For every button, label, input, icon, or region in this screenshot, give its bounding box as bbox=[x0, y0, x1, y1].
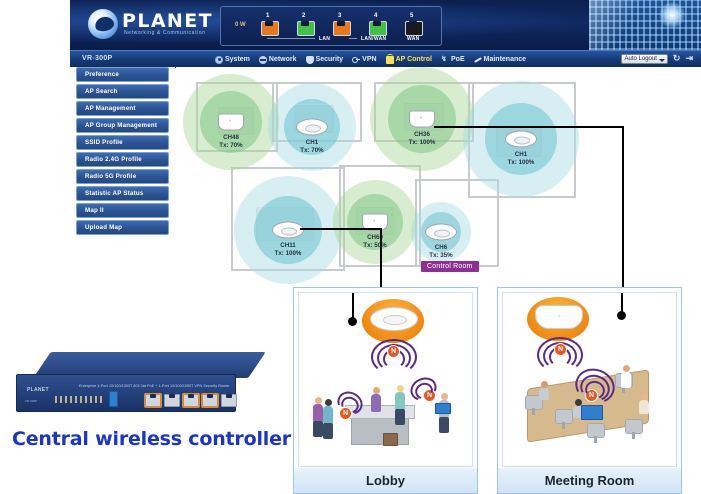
port-group: 12345LANLAN/WANWAN bbox=[261, 13, 436, 43]
ceiling-ap-device bbox=[527, 297, 589, 341]
controller-spec-label: Enterprise 4-Port 10/100/1000T 802.3at P… bbox=[79, 384, 230, 388]
sidebar-item-ap-group-management[interactable]: AP Group Management bbox=[76, 118, 169, 133]
ap-channel: CH6 bbox=[429, 244, 452, 252]
rj45-port bbox=[183, 394, 199, 407]
sidebar-item-preference[interactable]: Preference bbox=[76, 67, 169, 82]
sidebar-item-radio-5g-profile[interactable]: Radio 5G Profile bbox=[76, 169, 169, 184]
nav-item-label: AP Control bbox=[396, 56, 432, 63]
device-model-label: VR-300P bbox=[82, 55, 113, 62]
controller-port-row bbox=[145, 394, 237, 407]
network-icon bbox=[259, 56, 267, 64]
key-icon bbox=[352, 56, 360, 64]
planet-logo-mark-icon bbox=[88, 9, 118, 39]
ap-tx-power: Tx: 100% bbox=[275, 250, 302, 258]
app-root: PLANET Networking & Communication 0 W 12… bbox=[0, 0, 701, 494]
port-number: 2 bbox=[302, 13, 305, 19]
ap-plate bbox=[535, 305, 583, 329]
rj45-port bbox=[164, 394, 180, 407]
nav-item-label: Maintenance bbox=[484, 56, 526, 63]
rj45-port-indicator[interactable] bbox=[333, 21, 351, 36]
logout-icon[interactable]: ⇥ bbox=[685, 53, 693, 64]
scene-meeting-room: N N bbox=[497, 287, 682, 494]
sidebar-item-statistic-ap-status[interactable]: Statistic AP Status bbox=[76, 186, 169, 201]
poe-icon: ↯ bbox=[441, 56, 449, 64]
rj45-port bbox=[202, 394, 218, 407]
port-number: 5 bbox=[410, 13, 413, 19]
scene-meeting-illustration: N N bbox=[502, 292, 677, 467]
port-group-label: LAN bbox=[319, 36, 330, 42]
nav-item-label: Security bbox=[316, 56, 344, 63]
suitcase bbox=[383, 433, 398, 446]
nav-item-label: System bbox=[225, 56, 250, 63]
ap-channel: CH1 bbox=[508, 151, 535, 159]
sidebar-item-map-ii[interactable]: Map II bbox=[76, 203, 169, 218]
nav-item-poe[interactable]: ↯PoE bbox=[441, 56, 465, 64]
laptop-device bbox=[435, 403, 451, 414]
ap-device-icon bbox=[505, 131, 537, 148]
refresh-icon[interactable]: ↻ bbox=[673, 53, 681, 64]
scene-meeting-caption: Meeting Room bbox=[498, 468, 681, 493]
planet-logo-text: PLANET bbox=[122, 10, 213, 32]
rj45-port-indicator[interactable] bbox=[369, 21, 387, 36]
cable-segment bbox=[434, 126, 624, 128]
port-group-label bbox=[349, 38, 357, 39]
office-chair bbox=[625, 419, 643, 434]
ap-tx-power: Tx: 70% bbox=[300, 147, 323, 155]
wifi-n-badge: N bbox=[554, 343, 567, 356]
nav-item-label: PoE bbox=[451, 56, 465, 63]
controller-led-strip bbox=[55, 396, 103, 403]
nav-right-controls: Auto Logout ↻ ⇥ bbox=[621, 53, 693, 64]
ap-tx-power: Tx: 70% bbox=[219, 142, 242, 150]
ap-label: CH1Tx: 70% bbox=[300, 139, 323, 155]
controller-brand-label: PLANET bbox=[27, 387, 49, 393]
office-chair bbox=[587, 423, 605, 438]
office-chair bbox=[555, 409, 573, 424]
ap-channel: CH60 bbox=[363, 234, 386, 242]
wifi-waves bbox=[571, 369, 617, 395]
rj45-port-indicator[interactable] bbox=[405, 21, 423, 36]
ap-label: CH6Tx: 35% bbox=[429, 244, 452, 260]
ceiling-drop-cable bbox=[352, 292, 354, 319]
gear-icon bbox=[215, 56, 223, 64]
controller-front-face: PLANET Enterprise 4-Port 10/100/1000T 80… bbox=[16, 374, 236, 412]
access-point-icon bbox=[386, 56, 394, 64]
ap-tx-power: Tx: 100% bbox=[409, 139, 436, 147]
ap-channel: CH36 bbox=[409, 131, 436, 139]
ap-device-icon bbox=[425, 224, 457, 241]
control-room-label: Control Room bbox=[421, 261, 479, 272]
sidebar-item-ap-management[interactable]: AP Management bbox=[76, 101, 169, 116]
nav-item-list: SystemNetworkSecurityVPNAP Control↯PoEMa… bbox=[215, 51, 526, 68]
ceiling-ap-device bbox=[362, 299, 424, 343]
ap-tx-power: Tx: 100% bbox=[508, 159, 535, 167]
rj45-port-indicator[interactable] bbox=[261, 21, 279, 36]
cable-knob-icon bbox=[617, 311, 626, 320]
port-group-label: WAN bbox=[407, 36, 420, 42]
scene-lobby: N N bbox=[293, 287, 478, 494]
rj45-port-indicator[interactable] bbox=[297, 21, 315, 36]
wifi-waves bbox=[405, 375, 439, 395]
usb-port bbox=[109, 391, 118, 407]
sidebar-menu: PreferenceAP SearchAP ManagementAP Group… bbox=[70, 67, 175, 227]
scene-lobby-illustration: N N bbox=[298, 292, 473, 467]
device-front-panel: 0 W 12345LANLAN/WANWAN bbox=[220, 6, 442, 46]
sidebar-item-ap-search[interactable]: AP Search bbox=[76, 84, 169, 99]
app-header: PLANET Networking & Communication 0 W 12… bbox=[70, 0, 701, 50]
wifi-waves bbox=[331, 389, 365, 407]
port-group-label: LAN/WAN bbox=[361, 36, 386, 42]
port-number: 1 bbox=[266, 13, 269, 19]
ap-channel: CH1 bbox=[300, 139, 323, 147]
controller-model-label: VR-300P bbox=[25, 399, 37, 403]
ap-channel: CH11 bbox=[275, 242, 302, 250]
scene-lobby-caption: Lobby bbox=[294, 468, 477, 493]
nav-item-system[interactable]: System bbox=[215, 56, 250, 64]
cable-knob-icon bbox=[348, 317, 357, 326]
wifi-n-badge: N bbox=[387, 345, 400, 358]
ap-device-icon bbox=[409, 111, 435, 128]
nav-item-label: Network bbox=[269, 56, 297, 63]
port-number: 4 bbox=[374, 13, 377, 19]
wrench-icon bbox=[474, 56, 482, 64]
nav-item-vpn[interactable]: VPN bbox=[352, 56, 376, 64]
ceiling-drop-cable bbox=[621, 292, 623, 313]
ap-label: CH60Tx: 50% bbox=[363, 234, 386, 250]
laptop-device bbox=[581, 405, 603, 420]
nav-item-label: VPN bbox=[362, 56, 376, 63]
shield-icon bbox=[306, 56, 314, 64]
rj45-port bbox=[221, 394, 237, 407]
nav-item-network[interactable]: Network bbox=[259, 56, 297, 64]
ap-floorplan-map: CH48Tx: 70%CH1Tx: 70%CH36Tx: 100%CH1Tx: … bbox=[176, 67, 701, 297]
ap-label: CH36Tx: 100% bbox=[409, 131, 436, 147]
power-watt-label: 0 W bbox=[235, 22, 246, 28]
auto-logout-select[interactable]: Auto Logout bbox=[621, 54, 668, 64]
ap-plate bbox=[370, 307, 418, 331]
planet-logo-tagline: Networking & Communication bbox=[124, 30, 205, 36]
ap-label: CH48Tx: 70% bbox=[219, 134, 242, 150]
controller-caption: Central wireless controller bbox=[12, 428, 292, 450]
ap-tx-power: Tx: 50% bbox=[363, 242, 386, 250]
port-number: 3 bbox=[338, 13, 341, 19]
ap-device-icon bbox=[296, 119, 328, 136]
ap-label: CH1Tx: 100% bbox=[508, 151, 535, 167]
nav-item-security[interactable]: Security bbox=[306, 56, 344, 64]
ap-tx-power: Tx: 35% bbox=[429, 252, 452, 260]
rj45-port bbox=[145, 394, 161, 407]
main-nav-bar: VR-300P SystemNetworkSecurityVPNAP Contr… bbox=[70, 50, 701, 68]
cable-segment bbox=[300, 228, 382, 230]
sidebar-item-radio-2-4g-profile[interactable]: Radio 2.4G Profile bbox=[76, 152, 169, 167]
cable-segment bbox=[622, 126, 624, 297]
sidebar-item-upload-map[interactable]: Upload Map bbox=[76, 220, 169, 235]
ap-device-icon bbox=[218, 114, 244, 131]
ap-label: CH11Tx: 100% bbox=[275, 242, 302, 258]
ap-device-icon bbox=[272, 222, 304, 239]
port-group-label bbox=[267, 38, 315, 39]
sidebar-item-ssid-profile[interactable]: SSID Profile bbox=[76, 135, 169, 150]
nav-item-maintenance[interactable]: Maintenance bbox=[474, 56, 526, 64]
nav-item-ap-control[interactable]: AP Control bbox=[386, 56, 432, 64]
controller-device-photo: PLANET Enterprise 4-Port 10/100/1000T 80… bbox=[14, 352, 259, 424]
ap-channel: CH48 bbox=[219, 134, 242, 142]
header-building-image bbox=[589, 0, 701, 50]
